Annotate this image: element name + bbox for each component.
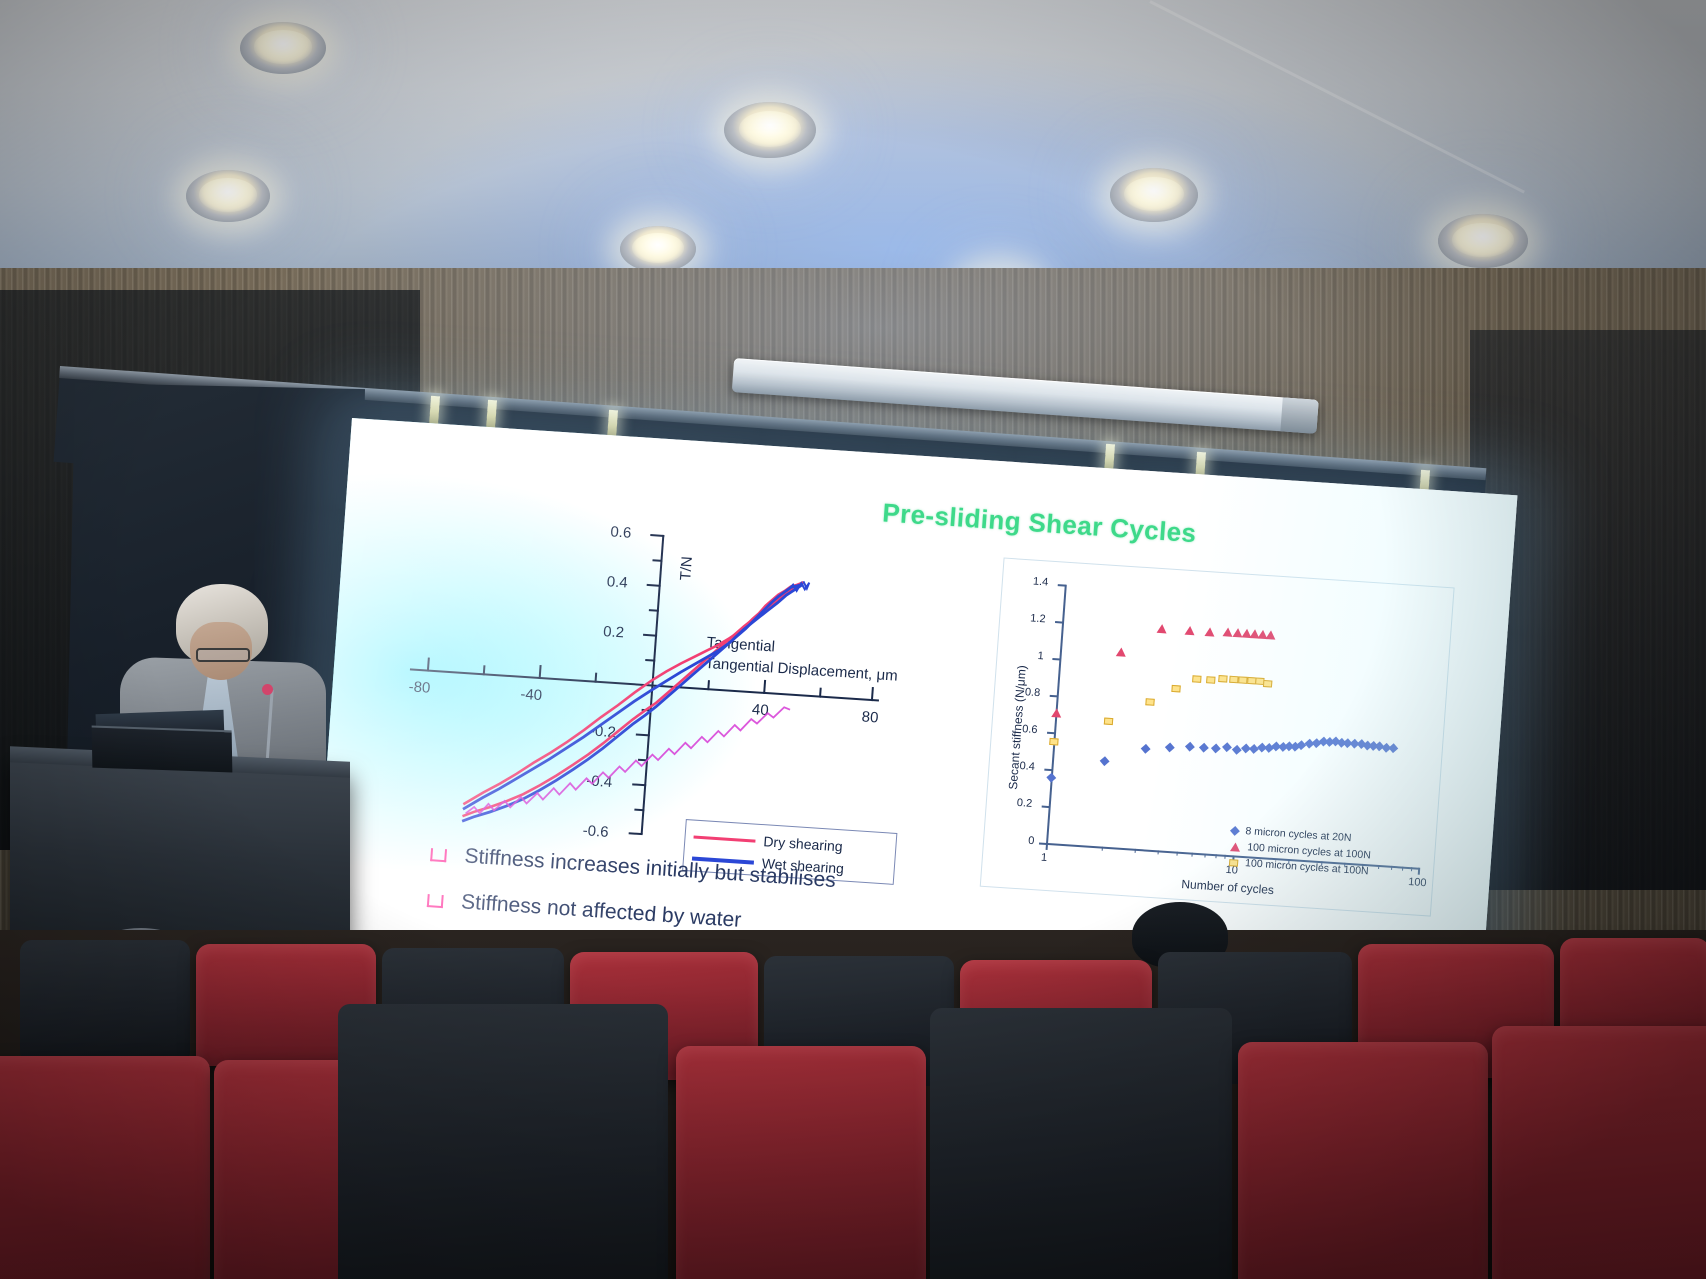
data-point-100micron-tri: [1051, 708, 1062, 718]
data-point-100micron-sq: [1192, 675, 1201, 683]
y-tick-label: 0.2: [1016, 797, 1032, 810]
data-point-100micron-tri: [1116, 647, 1127, 657]
legend-label-dry: Dry shearing: [763, 833, 843, 854]
bullet-marker-icon: [427, 894, 444, 908]
x-tick-label: 100: [1408, 876, 1427, 889]
y-tick-label: 1.4: [1033, 576, 1049, 589]
projection-screen: Pre-sliding Shear Cycles: [314, 418, 1517, 1014]
x-tick-minor: [1224, 855, 1225, 859]
ceiling-downlight: [620, 226, 696, 272]
auditorium-seat: [930, 1008, 1232, 1279]
data-point-100micron-sq: [1218, 675, 1227, 683]
data-point-100micron-sq: [1104, 718, 1113, 726]
data-point-8micron: [1199, 743, 1209, 753]
data-point-8micron: [1232, 745, 1242, 755]
y-tick: [1047, 732, 1055, 734]
data-point-100micron-tri: [1265, 630, 1276, 640]
dry-shearing-curve-upper: [463, 561, 803, 826]
y-tick-label: 0: [1028, 835, 1035, 847]
y-tick: [1044, 769, 1052, 771]
hysteresis-noise-overlay: [466, 687, 791, 835]
auditorium-seat: [338, 1004, 668, 1279]
ceiling-downlight: [240, 22, 326, 74]
chart-secant-stiffness: 1.4 1.2 1 0.8 0.6 0.4 0.2 0: [980, 557, 1455, 916]
y-tick: [1058, 584, 1066, 586]
x-tick-minor: [1378, 865, 1379, 869]
data-point-8micron: [1388, 743, 1398, 753]
legend-marker-diamond: [1230, 825, 1240, 835]
auditorium-seat: [0, 1056, 210, 1279]
data-point-100micron-sq: [1049, 738, 1058, 746]
presentation-slide: Pre-sliding Shear Cycles: [314, 418, 1517, 1014]
data-point-8micron: [1165, 742, 1175, 752]
x-tick-minor: [1204, 853, 1205, 857]
y-tick-label: 1.2: [1030, 612, 1046, 625]
ceiling-downlight: [1438, 214, 1528, 268]
x-axis-title: Number of cycles: [1181, 877, 1275, 897]
laptop-base: [92, 726, 233, 773]
x-tick-major: [1418, 868, 1420, 875]
x-tick-minor: [1191, 853, 1192, 857]
x-tick-minor: [1402, 867, 1403, 871]
x-tick-minor: [1391, 866, 1392, 870]
wet-shearing-curve-upper: [463, 563, 803, 831]
x-tick-minor: [1176, 852, 1177, 856]
data-point-8micron: [1100, 756, 1110, 766]
y-tick-label: 1: [1037, 650, 1044, 662]
bullet-text: Stiffness not affected by water: [460, 890, 742, 933]
data-point-100micron-sq: [1145, 698, 1154, 706]
x-tick-minor: [1215, 854, 1216, 858]
data-point-100micron-sq: [1171, 685, 1180, 693]
x-tick-label: 1: [1041, 852, 1048, 864]
data-point-100micron-tri: [1185, 626, 1196, 636]
legend-marker-triangle: [1230, 842, 1241, 852]
legend-marker-square: [1229, 859, 1238, 867]
x-tick-minor: [1135, 849, 1136, 853]
data-point-100micron-tri: [1157, 624, 1168, 634]
chart-shear-hysteresis: 0.6 0.4 0.2 -0.2 -0.4 -0.6 -80 -40 40: [391, 504, 974, 880]
data-point-8micron: [1211, 744, 1221, 754]
data-point-100micron-sq: [1206, 676, 1215, 684]
ceiling-downlight: [1110, 168, 1198, 222]
hysteresis-curves: [391, 504, 974, 880]
x-tick-major: [1046, 843, 1048, 850]
data-point-8micron: [1222, 742, 1232, 752]
y-tick: [1055, 621, 1063, 623]
microphone-head: [262, 684, 273, 695]
auditorium-seat: [1238, 1042, 1488, 1279]
bullet-marker-icon: [430, 848, 447, 862]
data-point-100micron-tri: [1204, 627, 1215, 637]
data-point-8micron: [1185, 742, 1195, 752]
presenter-glasses: [196, 648, 250, 662]
y-tick: [1052, 658, 1060, 660]
legend-swatch-dry: [693, 835, 755, 842]
chart-legend: 8 micron cycles at 20N 100 micron cycles…: [1229, 822, 1373, 879]
lecture-hall-photo: Pre-sliding Shear Cycles: [0, 0, 1706, 1279]
ceiling-downlight: [724, 102, 816, 158]
x-tick-minor: [1158, 850, 1159, 854]
y-tick: [1042, 806, 1050, 808]
auditorium-seat: [20, 940, 190, 1058]
data-point-8micron: [1141, 744, 1151, 754]
ceiling-downlight: [186, 170, 270, 222]
light-bar-end-cap: [1280, 397, 1318, 433]
dry-shearing-curve-lower: [462, 561, 803, 838]
auditorium-seat: [676, 1046, 926, 1279]
data-point-8micron: [1046, 773, 1056, 783]
data-point-100micron-sq: [1263, 680, 1272, 688]
x-tick-minor: [1411, 867, 1412, 871]
auditorium-seat: [1492, 1026, 1706, 1279]
y-tick: [1050, 695, 1058, 697]
x-tick-minor: [1102, 847, 1103, 851]
